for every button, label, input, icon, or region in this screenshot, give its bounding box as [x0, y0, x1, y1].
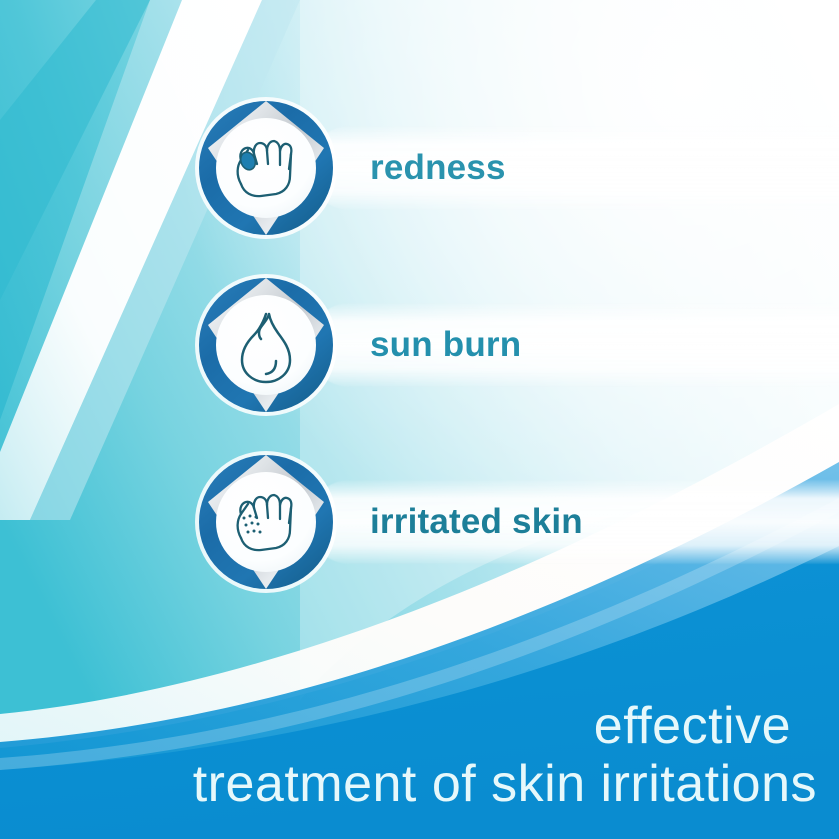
feature-label-irritated-skin: irritated skin	[370, 502, 583, 542]
headline: effective treatment of skin irritations	[17, 697, 817, 813]
feature-item-irritated-skin[interactable]: irritated skin	[190, 446, 583, 598]
feature-item-sun-burn[interactable]: sun burn	[190, 269, 521, 421]
headline-line-1: effective	[17, 697, 817, 755]
badge-medallion-irritated-skin	[190, 446, 342, 598]
badge-medallion-redness	[190, 92, 342, 244]
poster-canvas: redness sun burn	[0, 0, 839, 839]
badge-medallion-sun-burn	[190, 269, 342, 421]
headline-line-2: treatment of skin irritations	[17, 755, 817, 813]
feature-label-sun-burn: sun burn	[370, 325, 521, 365]
feature-label-redness: redness	[370, 148, 506, 188]
feature-item-redness[interactable]: redness	[190, 92, 506, 244]
